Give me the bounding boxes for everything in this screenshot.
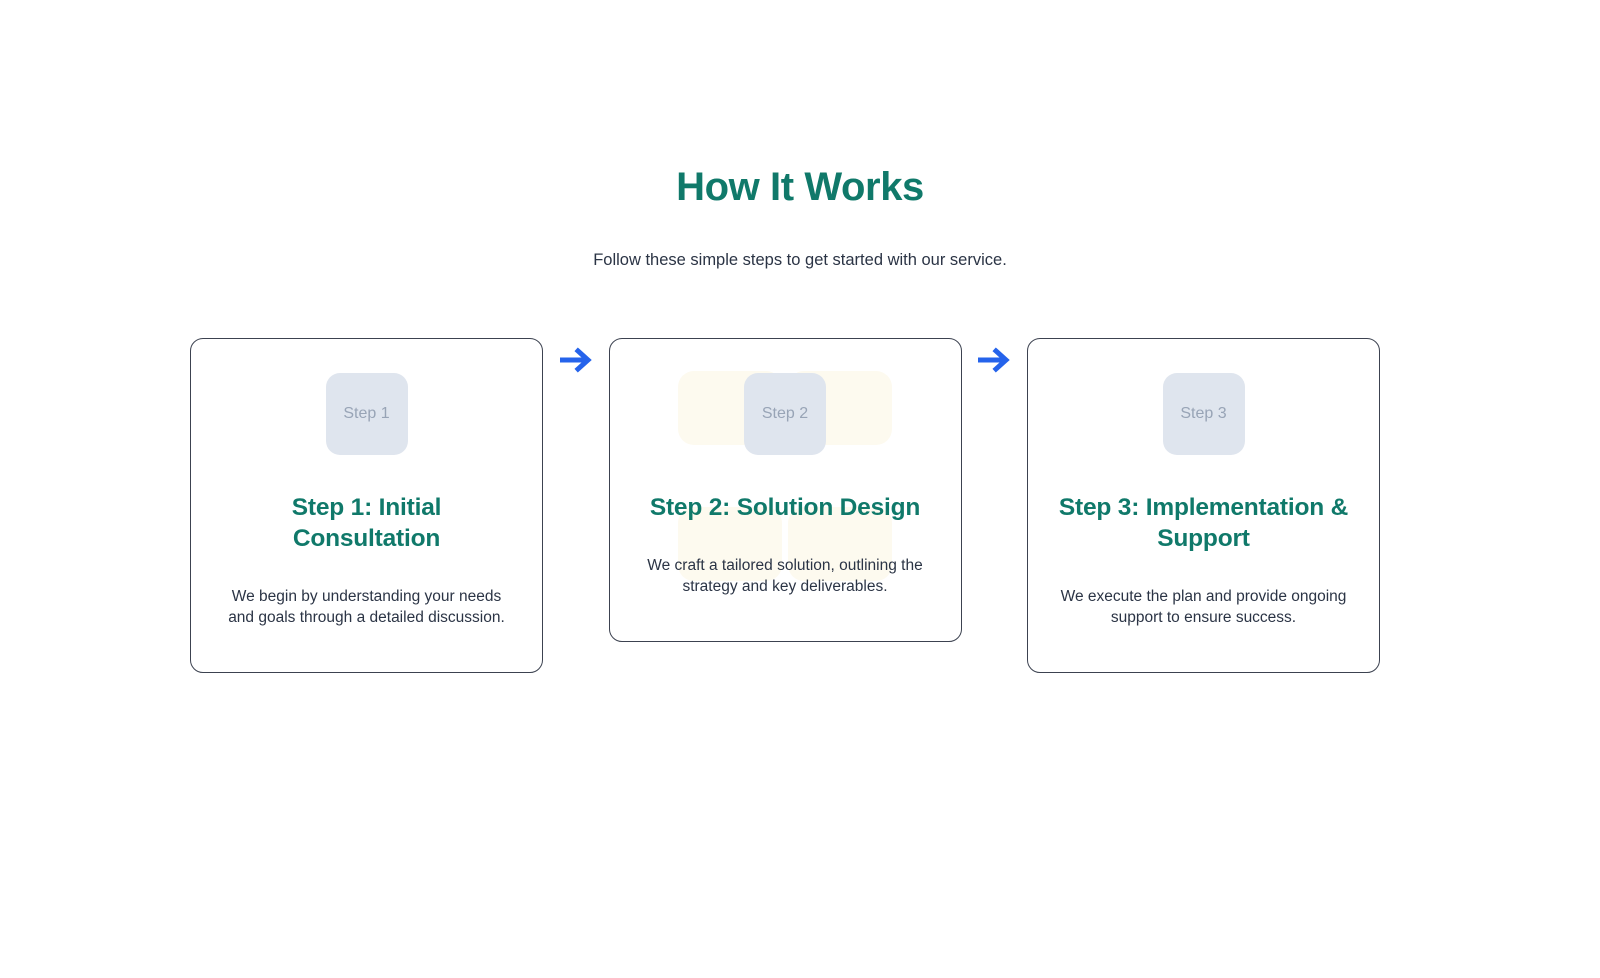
page-title: How It Works [0,162,1600,212]
step-media-label: Step 2 [762,404,808,424]
step-media-label: Step 3 [1180,404,1226,424]
steps-row: Step 1 Step 1: Initial Consultation We b… [190,338,1380,673]
step-card-2[interactable]: Step 2 Step 2: Solution Design We craft … [609,338,962,642]
arrow-right-icon [560,346,592,374]
how-it-works-section: How It Works Follow these simple steps t… [0,0,1600,978]
step-card-1[interactable]: Step 1 Step 1: Initial Consultation We b… [190,338,543,673]
step-media-placeholder-1: Step 1 [326,373,408,455]
step-description-1: We begin by understanding your needs and… [217,554,516,628]
step-description-3: We execute the plan and provide ongoing … [1054,554,1353,628]
arrow-right-icon [978,346,1010,374]
step-media-label: Step 1 [343,404,389,424]
step-connector-2 [972,338,1016,590]
step-title-3: Step 3: Implementation & Support [1054,455,1353,554]
step-connector-1 [554,338,598,590]
step-title-1: Step 1: Initial Consultation [217,455,516,554]
step-card-3[interactable]: Step 3 Step 3: Implementation & Support … [1027,338,1380,673]
step-media-placeholder-3: Step 3 [1163,373,1245,455]
step-media-placeholder-2: Step 2 [744,373,826,455]
step-title-2: Step 2: Solution Design [636,455,935,523]
step-description-2: We craft a tailored solution, outlining … [636,523,935,597]
page-subtitle: Follow these simple steps to get started… [0,212,1600,272]
section-header: How It Works Follow these simple steps t… [0,162,1600,272]
